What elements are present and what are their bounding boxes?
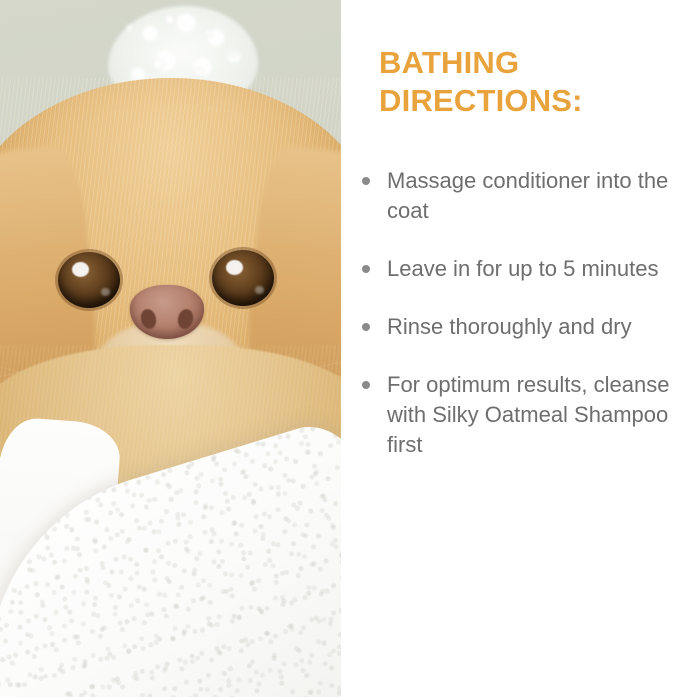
product-photo <box>0 0 341 697</box>
nostril-left <box>139 307 158 330</box>
title-line-1: BATHING <box>379 44 669 82</box>
list-item-text: Massage conditioner into the coat <box>387 168 668 223</box>
dog-eye-left <box>58 252 120 308</box>
bullet-dot-icon <box>362 177 370 185</box>
foam-bubble <box>164 14 175 25</box>
list-item-text: Leave in for up to 5 minutes <box>387 256 659 281</box>
list-item-text: For optimum results, cleanse with Silky … <box>387 372 669 457</box>
list-item-text: Rinse thoroughly and dry <box>387 314 632 339</box>
title-line-2: DIRECTIONS: <box>379 82 669 120</box>
list-item: Massage conditioner into the coat <box>360 166 679 226</box>
foam-bubble <box>126 24 134 32</box>
bullet-dot-icon <box>362 323 370 331</box>
bullet-dot-icon <box>362 265 370 273</box>
dog-eye-right <box>212 250 274 306</box>
list-item: For optimum results, cleanse with Silky … <box>360 370 679 460</box>
foam-bubble <box>204 28 213 37</box>
foam-bubble <box>230 50 237 57</box>
product-infographic: BATHING DIRECTIONS: Massage conditioner … <box>0 0 679 697</box>
foam-bubble <box>194 68 204 78</box>
bullet-dot-icon <box>362 381 370 389</box>
list-item: Rinse thoroughly and dry <box>360 312 679 342</box>
list-item: Leave in for up to 5 minutes <box>360 254 679 284</box>
directions-list: Massage conditioner into the coat Leave … <box>360 166 679 460</box>
nostril-right <box>176 307 195 330</box>
directions-panel: BATHING DIRECTIONS: Massage conditioner … <box>341 0 679 697</box>
page-title: BATHING DIRECTIONS: <box>379 44 669 120</box>
foam-bubble <box>152 58 164 70</box>
